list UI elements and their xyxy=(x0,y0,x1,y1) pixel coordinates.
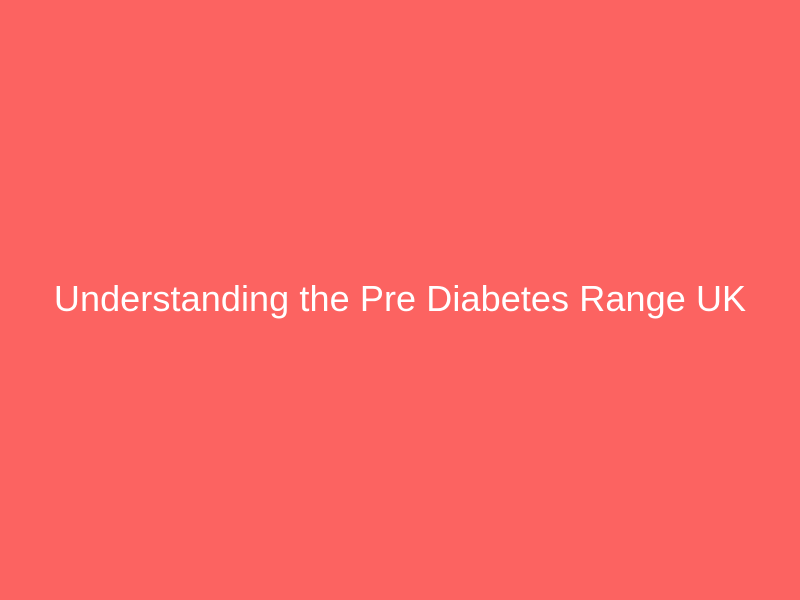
title-card: Understanding the Pre Diabetes Range UK xyxy=(0,0,800,600)
page-title: Understanding the Pre Diabetes Range UK xyxy=(30,277,770,321)
